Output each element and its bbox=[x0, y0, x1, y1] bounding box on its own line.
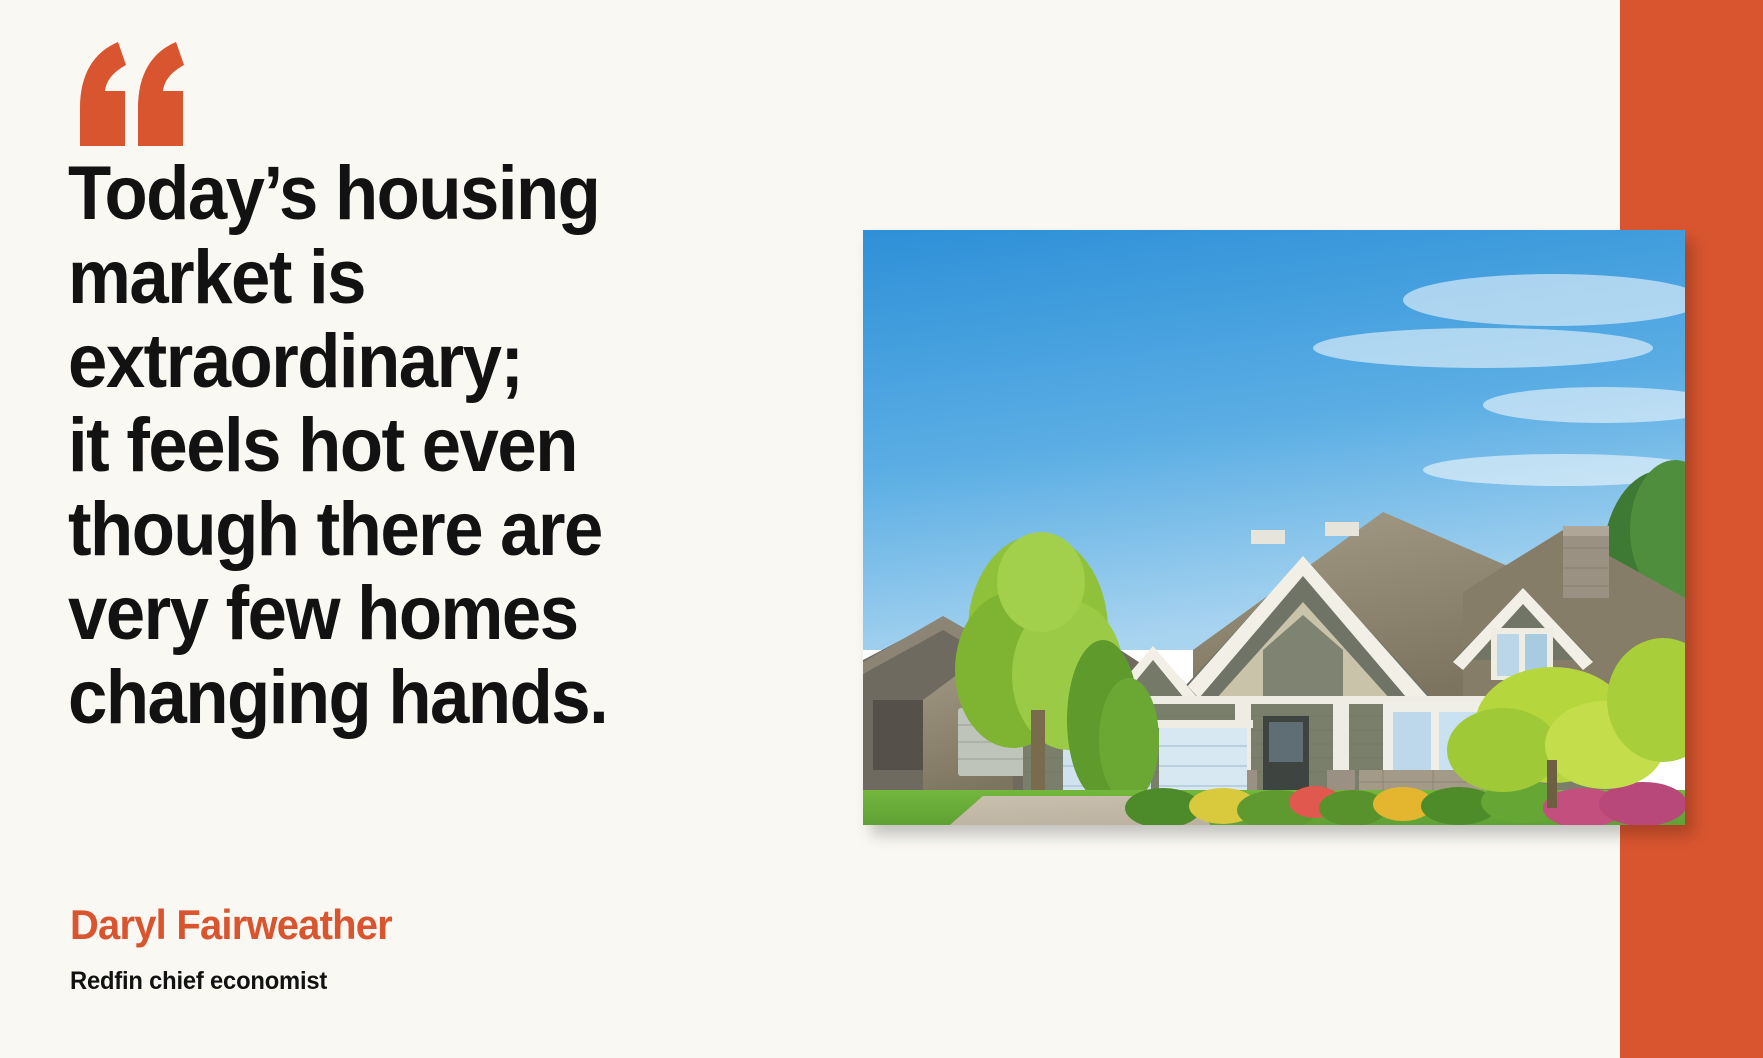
author-name: Daryl Fairweather bbox=[70, 900, 697, 950]
slide-canvas: Today’s housing market is extraordinary;… bbox=[0, 0, 1763, 1058]
quote-block: Today’s housing market is extraordinary;… bbox=[68, 152, 728, 740]
author-title: Redfin chief economist bbox=[70, 966, 697, 996]
open-quote-icon bbox=[76, 34, 196, 154]
quote-text: Today’s housing market is extraordinary;… bbox=[68, 152, 682, 740]
house-photo bbox=[863, 230, 1685, 825]
attribution: Daryl Fairweather Redfin chief economist bbox=[70, 900, 730, 996]
